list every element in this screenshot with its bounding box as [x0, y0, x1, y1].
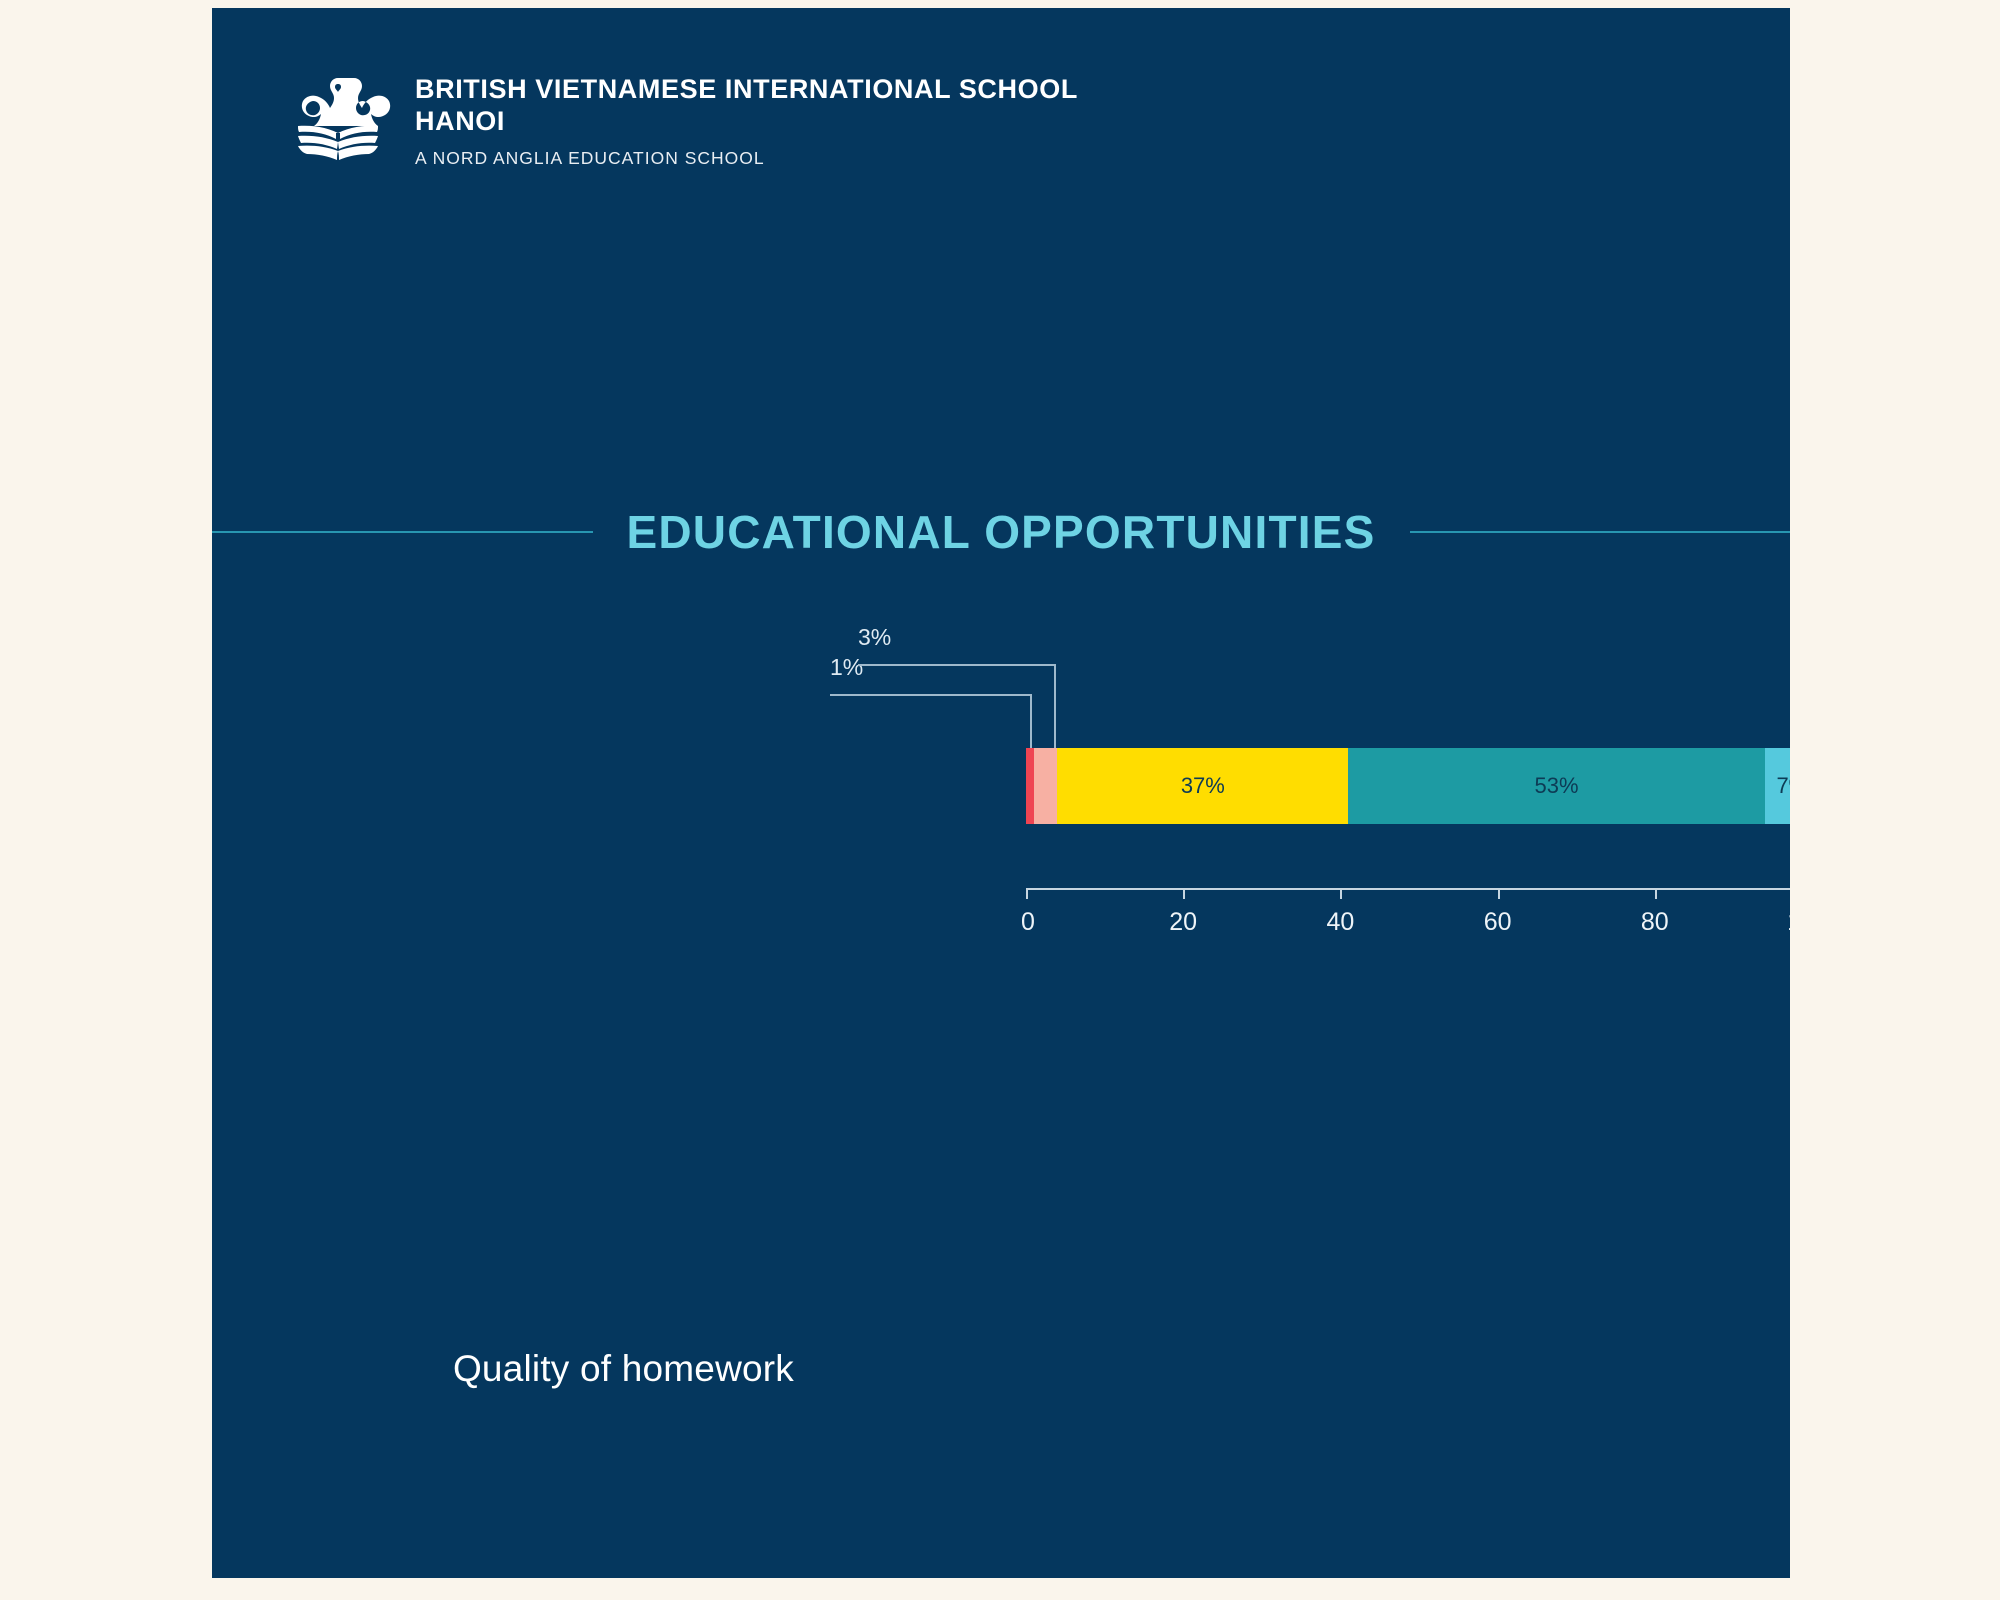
- x-axis-tick-label: 100: [1787, 908, 1790, 937]
- bar-segment-very-poor: [1026, 748, 1034, 824]
- callout-label-poor: 3%: [858, 624, 891, 651]
- x-axis-tick-label: 60: [1484, 908, 1512, 937]
- stacked-bar-quality-of-homework: 37% 53% 7%: [1026, 748, 1790, 824]
- heading-rule-left: [212, 531, 593, 533]
- bar-segment-good: 53%: [1348, 748, 1765, 824]
- bar-category-label: Quality of homework: [234, 1348, 794, 1390]
- x-axis-tick: [1340, 888, 1342, 899]
- bar-segment-fair: 37%: [1057, 748, 1348, 824]
- crown-open-book-logo-icon: [277, 70, 399, 165]
- bar-segment-poor: [1034, 748, 1058, 824]
- x-axis-line: [1026, 888, 1790, 890]
- chart-region: Quality of homework 1% 3% 37% 53% 7% 97%: [212, 608, 1790, 1108]
- bar-segment-excellent: 7%: [1765, 748, 1790, 824]
- brand-text: BRITISH VIETNAMESE INTERNATIONAL SCHOOL …: [415, 66, 1078, 169]
- page-title: EDUCATIONAL OPPORTUNITIES: [593, 509, 1410, 555]
- school-tagline: A NORD ANGLIA EDUCATION SCHOOL: [415, 148, 1078, 169]
- callout-line-very-poor-horizontal: [830, 694, 1030, 696]
- x-axis-tick-label: 20: [1169, 908, 1197, 937]
- slide-panel: BRITISH VIETNAMESE INTERNATIONAL SCHOOL …: [212, 8, 1790, 1578]
- x-axis-tick: [1026, 888, 1028, 899]
- brand-block: BRITISH VIETNAMESE INTERNATIONAL SCHOOL …: [277, 66, 1078, 169]
- callout-line-poor-vertical: [1054, 664, 1056, 748]
- x-axis-tick-label: 80: [1641, 908, 1669, 937]
- callout-line-poor-horizontal: [858, 664, 1056, 666]
- heading-rule-right: [1410, 531, 1791, 533]
- plot-area: 1% 3% 37% 53% 7% 97%: [1026, 608, 1790, 1578]
- school-name: BRITISH VIETNAMESE INTERNATIONAL SCHOOL …: [415, 74, 1078, 137]
- section-heading: EDUCATIONAL OPPORTUNITIES: [212, 500, 1790, 564]
- callout-line-very-poor-vertical: [1030, 694, 1032, 748]
- x-axis-tick-label: 0: [1021, 908, 1035, 937]
- x-axis-tick: [1655, 888, 1657, 899]
- x-axis-tick-label: 40: [1326, 908, 1354, 937]
- x-axis-tick: [1183, 888, 1185, 899]
- x-axis-tick: [1498, 888, 1500, 899]
- callout-label-very-poor: 1%: [830, 654, 863, 681]
